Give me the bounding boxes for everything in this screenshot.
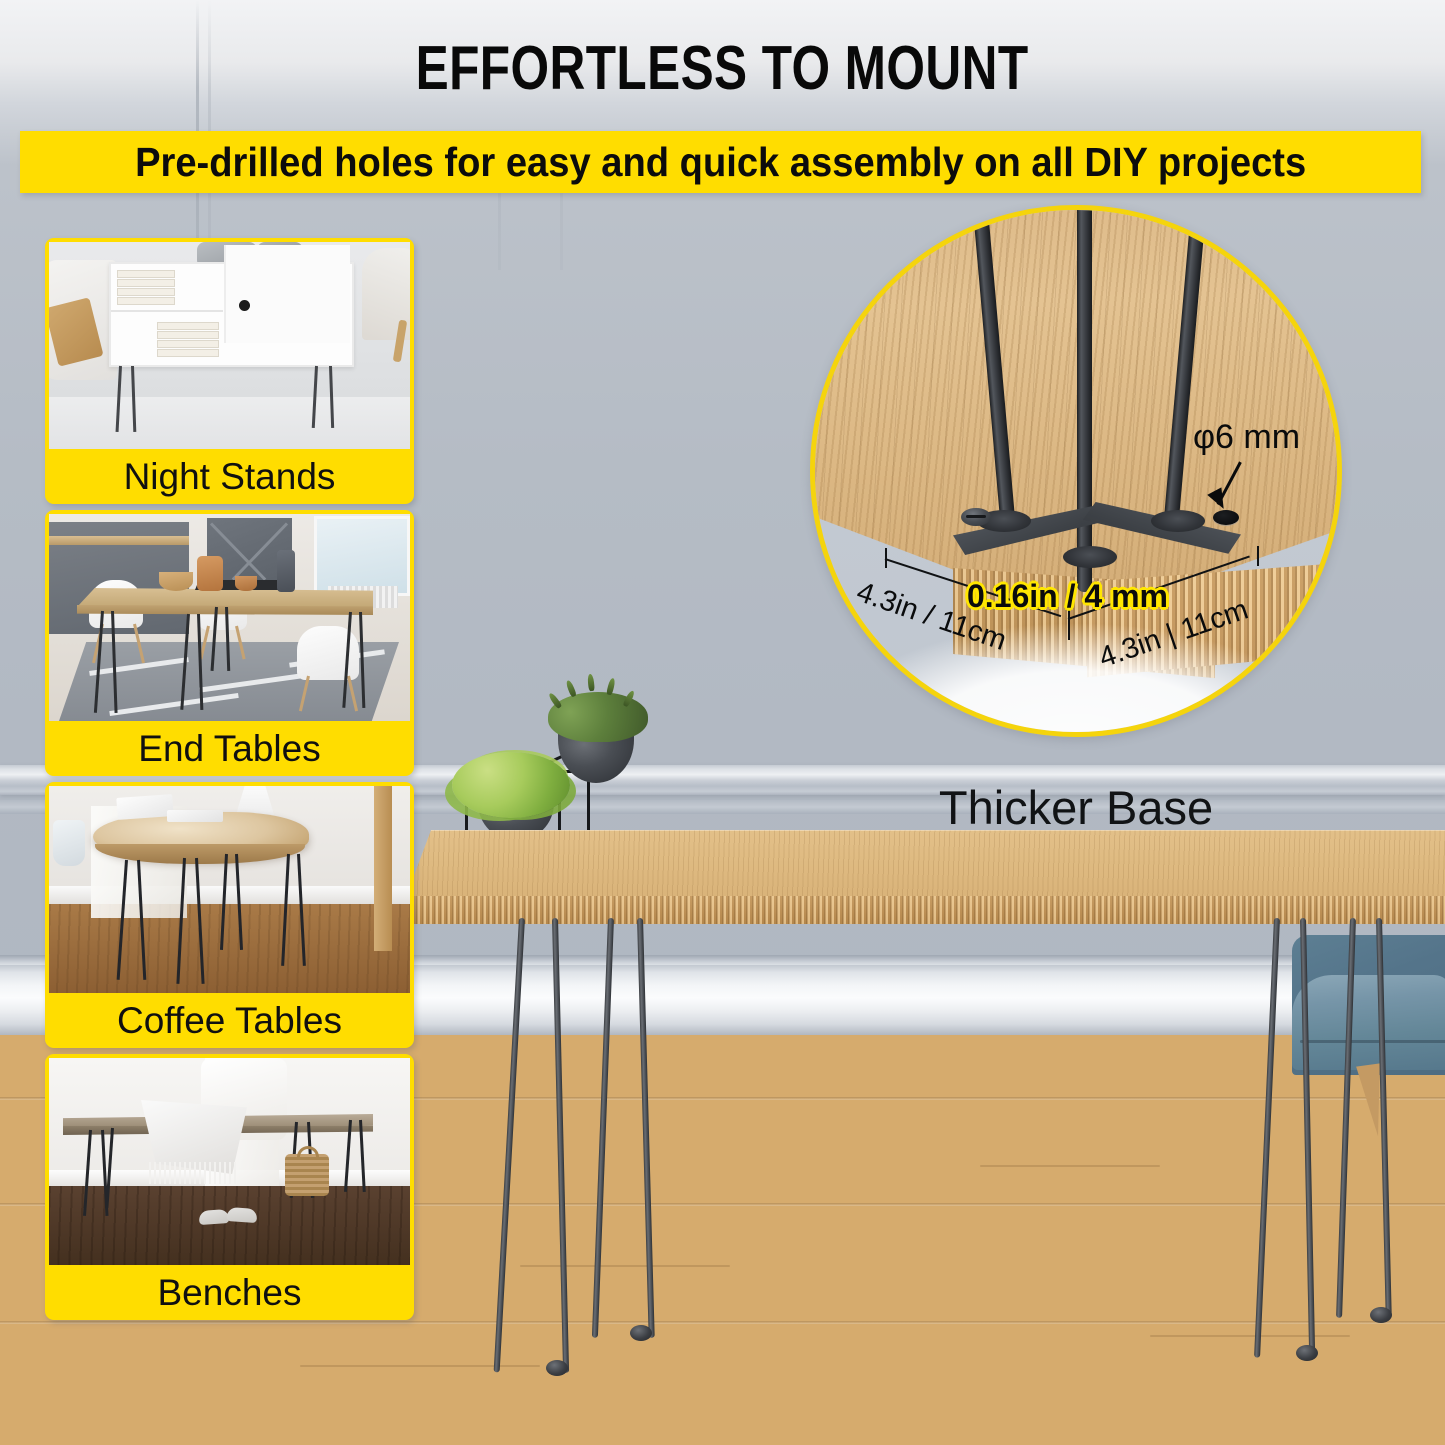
table-top — [404, 830, 1445, 902]
use-case-card-benches[interactable]: Benches — [45, 1054, 414, 1320]
thicker-base-caption: Thicker Base — [810, 780, 1342, 835]
use-case-card-night-stands[interactable]: Night Stands — [45, 238, 414, 504]
couch-seam — [1300, 1040, 1445, 1043]
coffee-table-photo — [49, 786, 410, 993]
couch-arm — [1292, 975, 1445, 1070]
use-case-label: Night Stands — [49, 449, 410, 504]
bench-photo — [49, 1058, 410, 1265]
page-title: EFFORTLESS TO MOUNT — [416, 38, 1029, 100]
use-case-card-end-tables[interactable]: End Tables — [45, 510, 414, 776]
table-edge — [404, 896, 1445, 924]
hairpin-rod-center — [1077, 205, 1092, 592]
use-case-gallery: Night Stands — [45, 238, 414, 1326]
thickness-marker: ‖ — [815, 210, 826, 236]
rod-weld-right — [1151, 510, 1205, 532]
end-table-photo — [49, 514, 410, 721]
use-case-label: End Tables — [49, 721, 410, 776]
use-case-label: Coffee Tables — [49, 993, 410, 1048]
night-stand-photo — [49, 242, 410, 449]
subtitle-banner: Pre-drilled holes for easy and quick ass… — [20, 131, 1421, 193]
use-case-card-coffee-tables[interactable]: Coffee Tables — [45, 782, 414, 1048]
header-title-bar: EFFORTLESS TO MOUNT — [0, 38, 1445, 100]
use-case-label: Benches — [49, 1265, 410, 1320]
detail-callout-circle: 4.3in / 11cm 4.3in | 11cm 0.16in / 4 mm … — [810, 205, 1342, 737]
detail-shadow — [815, 622, 1337, 737]
dim-label-thickness: 0.16in / 4 mm — [967, 578, 1168, 615]
dim-label-hole-diameter: φ6 mm — [1193, 418, 1300, 457]
subtitle-text: Pre-drilled holes for easy and quick ass… — [135, 139, 1306, 186]
mounting-screw — [961, 508, 991, 526]
dim-tick-right — [1257, 546, 1259, 566]
rod-weld-center — [1063, 546, 1117, 568]
